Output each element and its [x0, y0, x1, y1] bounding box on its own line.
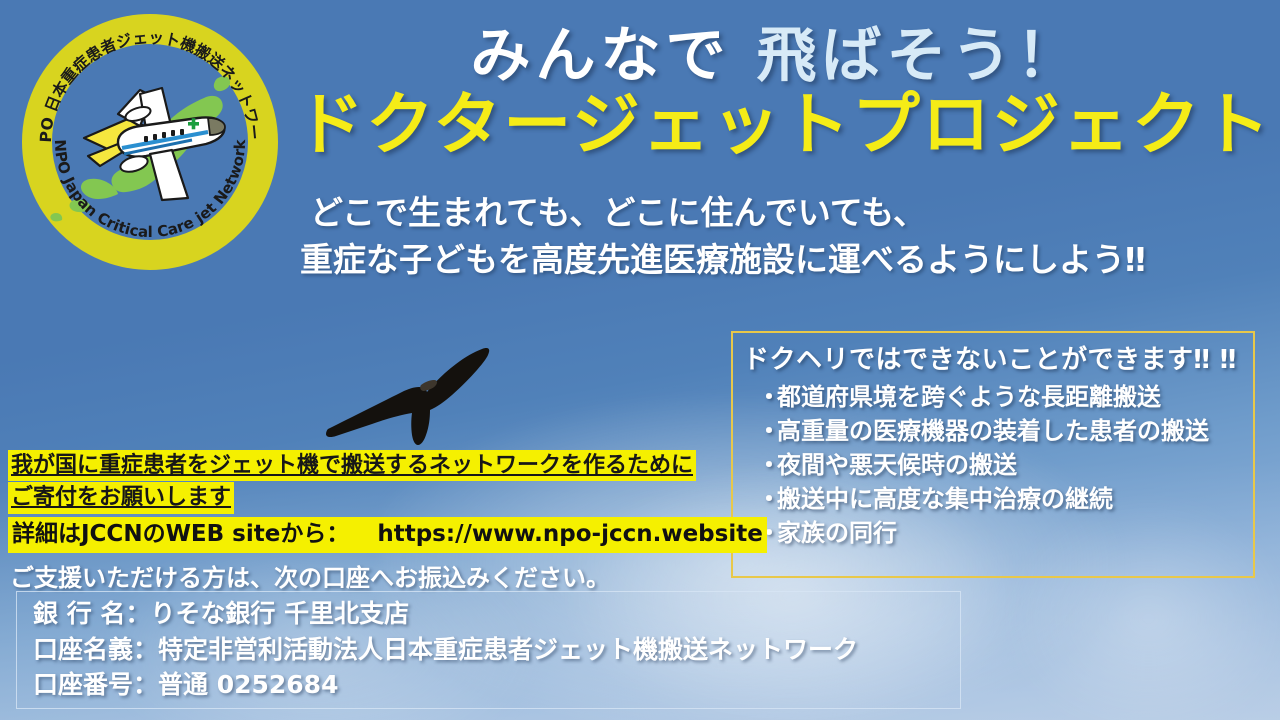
list-item: ・家族の同行 [757, 516, 1245, 550]
subtitle-line2: 重症な子どもを高度先進医療施設に運べるようにしよう‼ [300, 237, 1220, 284]
subtitle-line1: どこで生まれても、どこに住んでいても、 [300, 190, 1220, 237]
organization-logo: NPO 日本重症患者ジェット機搬送ネットワーク NPO Japan Critic… [22, 14, 278, 270]
benefits-item-label: 都道府県境を跨ぐような長距離搬送 [777, 383, 1161, 411]
bullet-icon: ・ [757, 448, 777, 482]
benefits-box: ドクヘリではできないことができます‼ ‼ ・都道府県境を跨ぐような長距離搬送 ・… [731, 331, 1255, 578]
bullet-icon: ・ [757, 414, 777, 448]
donation-appeal-line2: ご寄付をお願いします [8, 482, 234, 513]
soaring-bird-icon [322, 345, 512, 450]
benefits-title: ドクヘリではできないことができます‼ ‼ [743, 339, 1245, 376]
benefits-item-label: 高重量の医療機器の装着した患者の搬送 [777, 417, 1209, 445]
poster-canvas: NPO 日本重症患者ジェット機搬送ネットワーク NPO Japan Critic… [0, 0, 1280, 720]
transfer-instruction: ご支援いただける方は、次の口座へお振込みください。 [10, 558, 610, 593]
website-link-label: 詳細はJCCNのWEB siteから： [12, 521, 349, 547]
list-item: ・都道府県境を跨ぐような長距離搬送 [757, 380, 1245, 414]
list-item: ・搬送中に高度な集中治療の継続 [757, 482, 1245, 516]
bullet-icon: ・ [757, 380, 777, 414]
donation-appeal-line1: 我が国に重症患者をジェット機で搬送するネットワークを作るために [8, 450, 696, 481]
bank-account-box: 銀 行 名：りそな銀行 千里北支店 口座名義：特定非営利活動法人日本重症患者ジェ… [16, 591, 961, 709]
donation-appeal: 我が国に重症患者をジェット機で搬送するネットワークを作るために ご寄付をお願いし… [8, 450, 708, 514]
account-number-row: 口座番号：普通 0252684 [33, 667, 960, 703]
headline-line2: ドクタージェットプロジェクト [296, 92, 1256, 160]
website-link-row[interactable]: 詳細はJCCNのWEB siteから：https://www.npo-jccn.… [8, 517, 767, 553]
bank-name-row: 銀 行 名：りそな銀行 千里北支店 [33, 596, 960, 632]
headline-line1-lead: みんなで [471, 21, 757, 91]
headline: みんなで 飛ばそう！ ドクタージェットプロジェクト [296, 26, 1256, 160]
bullet-icon: ・ [757, 482, 777, 516]
list-item: ・高重量の医療機器の装着した患者の搬送 [757, 414, 1245, 448]
benefits-item-label: 搬送中に高度な集中治療の継続 [777, 485, 1113, 513]
headline-line1: みんなで 飛ばそう！ [296, 26, 1256, 86]
list-item: ・夜間や悪天候時の搬送 [757, 448, 1245, 482]
subtitle: どこで生まれても、どこに住んでいても、 重症な子どもを高度先進医療施設に運べるよ… [300, 190, 1220, 284]
headline-line1-accent: 飛ばそう！ [756, 21, 1081, 91]
benefits-item-label: 家族の同行 [777, 519, 897, 547]
benefits-list: ・都道府県境を跨ぐような長距離搬送 ・高重量の医療機器の装着した患者の搬送 ・夜… [743, 380, 1245, 550]
benefits-item-label: 夜間や悪天候時の搬送 [777, 451, 1017, 479]
account-holder-row: 口座名義：特定非営利活動法人日本重症患者ジェット機搬送ネットワーク [33, 632, 960, 668]
website-url-link[interactable]: https://www.npo-jccn.website [349, 521, 762, 547]
